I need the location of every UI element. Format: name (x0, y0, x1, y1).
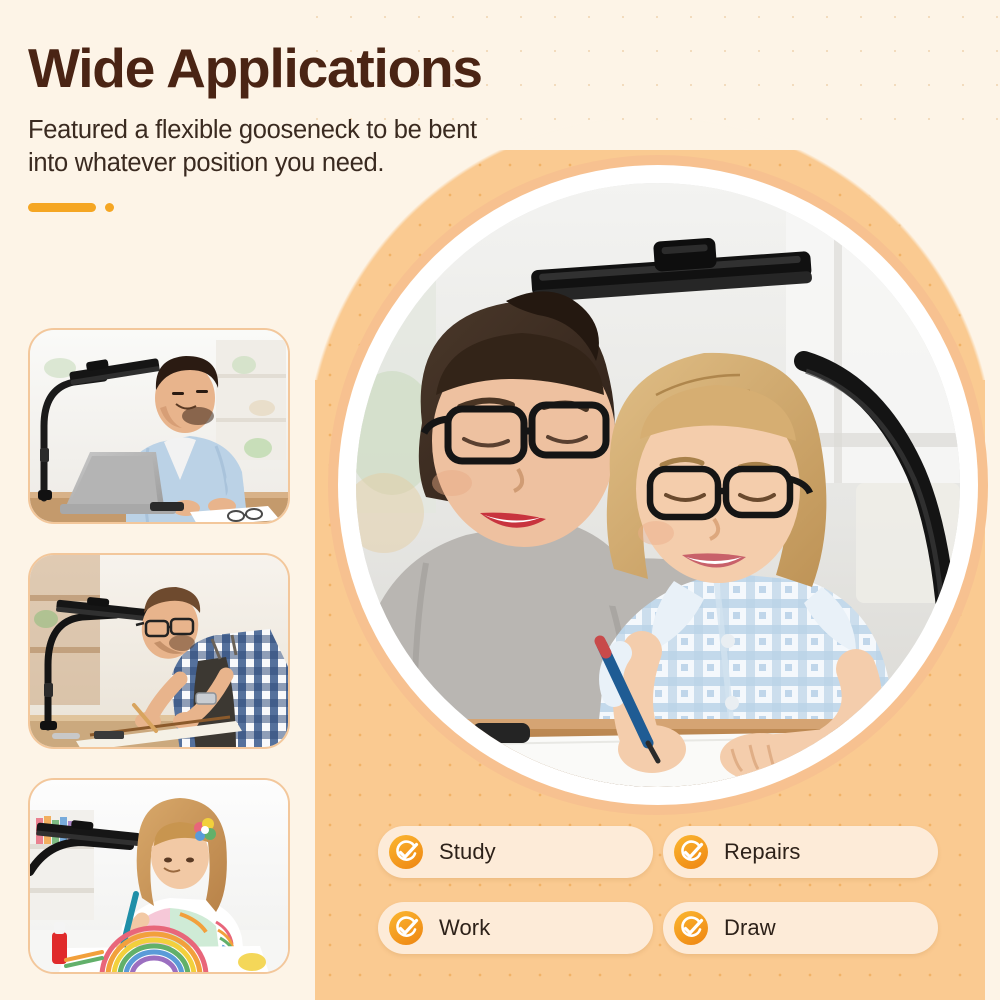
thumbnail-work[interactable] (28, 328, 290, 524)
divider-dot-icon (105, 203, 114, 212)
feature-pill-study[interactable]: Study (378, 826, 653, 878)
page-title: Wide Applications (28, 40, 588, 98)
feature-pill-label: Repairs (724, 839, 801, 865)
thumbnail-repairs-image (30, 555, 288, 747)
feature-pill-repairs[interactable]: Repairs (663, 826, 938, 878)
check-circle-icon (389, 835, 423, 869)
feature-pill-label: Work (439, 915, 490, 941)
marketing-banner: Wide Applications Featured a flexible go… (0, 0, 1000, 1000)
check-circle-icon (674, 835, 708, 869)
hero-circle (328, 155, 988, 815)
thumbnail-work-image (30, 330, 288, 522)
feature-pill-work[interactable]: Work (378, 902, 653, 954)
thumbnail-repairs[interactable] (28, 553, 290, 749)
feature-pill-label: Study (439, 839, 496, 865)
feature-pill-label: Draw (724, 915, 776, 941)
check-circle-icon (389, 911, 423, 945)
thumbnail-draw-image (30, 780, 288, 972)
hero-image (356, 183, 960, 787)
feature-pill-draw[interactable]: Draw (663, 902, 938, 954)
thumbnail-draw[interactable] (28, 778, 290, 974)
feature-pill-grid: Study Repairs Work (378, 826, 938, 954)
divider-bar-icon (28, 203, 96, 212)
check-circle-icon (674, 911, 708, 945)
